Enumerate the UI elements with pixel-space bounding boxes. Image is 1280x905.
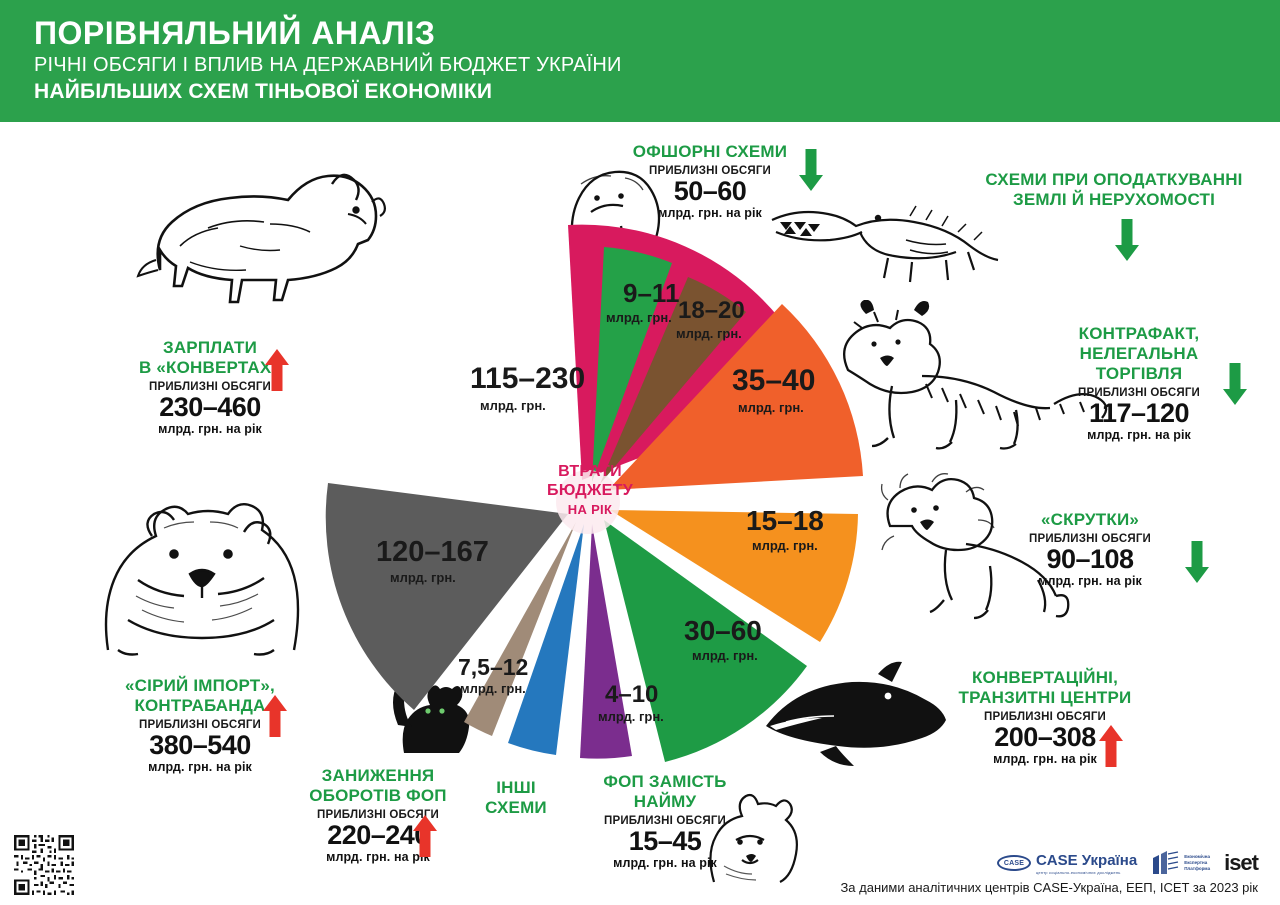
header-banner: ПОРІВНЯЛЬНИЙ АНАЛІЗ РІЧНІ ОБСЯГИ І ВПЛИВ… <box>0 0 1280 122</box>
callout-title-line-1: КОНВЕРТАЦІЙНІ, <box>930 668 1160 688</box>
trend-down-arrow-ofshorni <box>798 148 824 192</box>
callout-title-line-2: СХЕМИ <box>448 798 584 818</box>
pie-label-unit-skrutky: млрд. грн. <box>752 538 818 553</box>
callout-title-line-3: ТОРГІВЛЯ <box>1044 364 1234 384</box>
logo-case-ukraine: CASE CASE Україна центр соціально-економ… <box>997 852 1137 875</box>
callout-title-line-2: НЕЛЕГАЛЬНА <box>1044 344 1234 364</box>
callout-value: 117–120 <box>1044 399 1234 428</box>
callout-title-line-1: ФОП ЗАМІСТЬ <box>570 772 760 792</box>
callout-fop-zamist-naymu[interactable]: ФОП ЗАМІСТЬ НАЙМУ ПРИБЛИЗНІ ОБСЯГИ 15–45… <box>570 772 760 870</box>
callout-konvertatsiyni[interactable]: КОНВЕРТАЦІЙНІ, ТРАНЗИТНІ ЦЕНТРИ ПРИБЛИЗН… <box>930 668 1160 766</box>
pie-label-value-konvertatsiyni: 30–60 <box>684 615 762 646</box>
trend-up-arrow-zanyzhennya-fop <box>412 814 438 858</box>
callout-title-line-1: «СКРУТКИ» <box>1000 510 1180 530</box>
pie-label-value-skrutky: 15–18 <box>746 505 824 536</box>
trend-down-arrow-opodatkuvannya-zemli <box>1114 218 1140 262</box>
callout-unit: млрд. грн. на рік <box>930 752 1160 766</box>
pie-label-value-zarplaty: 115–230 <box>470 362 585 395</box>
pie-label-value-zanyzhennya: 7,5–12 <box>458 654 528 680</box>
pie-label-unit-siriy-import: млрд. грн. <box>390 570 456 585</box>
callout-value: 15–45 <box>570 827 760 856</box>
eep-mark-icon <box>1151 850 1181 876</box>
callout-inshi-schemy[interactable]: ІНШІ СХЕМИ <box>448 778 584 818</box>
callout-title-line-1: ОФШОРНІ СХЕМИ <box>610 142 810 162</box>
callout-kontrafakt[interactable]: КОНТРАФАКТ, НЕЛЕГАЛЬНА ТОРГІВЛЯ ПРИБЛИЗН… <box>1044 324 1234 442</box>
callout-unit: млрд. грн. на рік <box>1044 428 1234 442</box>
trend-down-arrow-kontrafakt <box>1222 362 1248 406</box>
pie-label-unit-kontrafakt: млрд. грн. <box>738 400 804 415</box>
pie-label-value-zemlya: 18–20 <box>678 297 745 324</box>
pie-label-value-siriy-import: 120–167 <box>376 536 489 568</box>
callout-skrutky[interactable]: «СКРУТКИ» ПРИБЛИЗНІ ОБСЯГИ 90–108 млрд. … <box>1000 510 1180 588</box>
page-subtitle-2: НАЙБІЛЬШИХ СХЕМ ТІНЬОВОЇ ЕКОНОМІКИ <box>34 78 1280 106</box>
callout-unit: млрд. грн. на рік <box>110 422 310 436</box>
callout-value: 200–308 <box>930 723 1160 752</box>
callout-value: 220–240 <box>278 821 478 850</box>
trend-up-arrow-siriy-import <box>262 694 288 738</box>
trend-up-arrow-konvertatsiyni <box>1098 724 1124 768</box>
eep-line-3: Платформа <box>1184 866 1210 872</box>
pie-label-unit-fop-naym: млрд. грн. <box>598 709 664 724</box>
pie-chart-svg: 115–230 млрд. грн. 9–11 млрд. грн. 18–20… <box>280 218 900 803</box>
callout-title-line-2: НАЙМУ <box>570 792 760 812</box>
callout-title-line-1: КОНТРАФАКТ, <box>1044 324 1234 344</box>
callout-title-line-1: ІНШІ <box>448 778 584 798</box>
callout-unit: млрд. грн. на рік <box>610 206 810 220</box>
callout-ofshorni-schemy[interactable]: ОФШОРНІ СХЕМИ ПРИБЛИЗНІ ОБСЯГИ 50–60 млр… <box>610 142 810 220</box>
callout-value: 230–460 <box>110 393 310 422</box>
logo-eep: Економічна Експертна Платформа <box>1151 850 1210 876</box>
pie-label-unit-zanyzhennya: млрд. грн. <box>460 681 526 696</box>
qr-code[interactable] <box>12 833 76 897</box>
pie-chart: 115–230 млрд. грн. 9–11 млрд. грн. 18–20… <box>280 218 900 803</box>
callout-title-line-1: СХЕМИ ПРИ ОПОДАТКУВАННІ <box>966 170 1262 190</box>
case-mark: CASE <box>997 855 1031 871</box>
partner-logos: CASE CASE Україна центр соціально-економ… <box>997 850 1258 876</box>
pie-label-value-ofshorni: 9–11 <box>623 278 679 308</box>
case-tagline: центр соціально-економічних досліджень <box>1036 870 1137 875</box>
source-note: За даними аналітичних центрів CASE-Украї… <box>840 880 1258 895</box>
callout-unit: млрд. грн. на рік <box>1000 574 1180 588</box>
callout-value: 90–108 <box>1000 545 1180 574</box>
page-subtitle-1: РІЧНІ ОБСЯГИ І ВПЛИВ НА ДЕРЖАВНИЙ БЮДЖЕТ… <box>34 52 1280 78</box>
case-name: CASE Україна <box>1036 852 1137 869</box>
callout-opodatkuvannya-zemli[interactable]: СХЕМИ ПРИ ОПОДАТКУВАННІ ЗЕМЛІ Й НЕРУХОМО… <box>966 170 1262 210</box>
pie-label-unit-konvertatsiyni: млрд. грн. <box>692 648 758 663</box>
callout-unit: млрд. грн. на рік <box>570 856 760 870</box>
callout-unit: млрд. грн. на рік <box>278 850 478 864</box>
callout-title-line-2: ТРАНЗИТНІ ЦЕНТРИ <box>930 688 1160 708</box>
pie-label-unit-zarplaty: млрд. грн. <box>480 398 546 413</box>
page-title: ПОРІВНЯЛЬНИЙ АНАЛІЗ <box>34 14 1280 52</box>
trend-down-arrow-skrutky <box>1184 540 1210 584</box>
logo-iset: iset <box>1224 850 1258 876</box>
callout-title-line-1: «СІРИЙ ІМПОРТ», <box>88 676 312 696</box>
trend-up-arrow-zarplaty <box>264 348 290 392</box>
pie-label-unit-ofshorni: млрд. грн. <box>606 310 672 325</box>
pie-label-unit-zemlya: млрд. грн. <box>676 326 742 341</box>
pie-label-value-fop-naym: 4–10 <box>605 681 658 708</box>
callout-value: 50–60 <box>610 177 810 206</box>
pie-slices <box>326 225 863 762</box>
callout-title-line-2: ЗЕМЛІ Й НЕРУХОМОСТІ <box>966 190 1262 210</box>
pie-label-value-kontrafakt: 35–40 <box>732 364 815 397</box>
